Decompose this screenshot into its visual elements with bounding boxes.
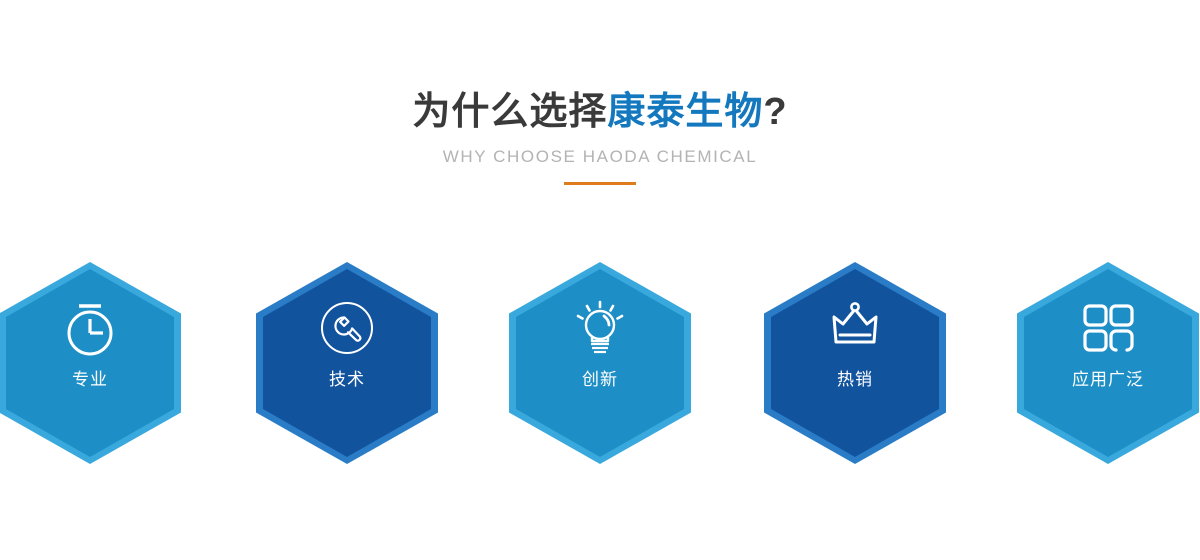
feature-hexagon-创新[interactable]: 创新 <box>509 262 691 464</box>
hexagon-content: 热销 <box>764 262 946 464</box>
crown-icon <box>823 296 887 360</box>
page-title: 为什么选择康泰生物? <box>0 88 1200 136</box>
feature-hexagon-专业[interactable]: 专业 <box>0 262 181 464</box>
grid-squares-icon <box>1076 296 1140 360</box>
heading-divider <box>564 182 636 185</box>
title-suffix: ? <box>763 91 787 133</box>
wrench-circle-icon <box>315 296 379 360</box>
hexagon-content: 技术 <box>256 262 438 464</box>
feature-hexagon-热销[interactable]: 热销 <box>764 262 946 464</box>
feature-hexagon-row: 专业 技术 <box>0 262 1200 467</box>
feature-label: 专业 <box>72 368 108 392</box>
feature-hexagon-应用广泛[interactable]: 应用广泛 <box>1017 262 1199 464</box>
section-heading: 为什么选择康泰生物? WHY CHOOSE HAODA CHEMICAL <box>0 88 1200 185</box>
feature-hexagon-技术[interactable]: 技术 <box>256 262 438 464</box>
title-accent-brand: 康泰生物 <box>607 91 763 133</box>
feature-label: 创新 <box>582 368 618 392</box>
stopwatch-icon <box>58 296 122 360</box>
hexagon-content: 专业 <box>0 262 181 464</box>
why-choose-us-section: 为什么选择康泰生物? WHY CHOOSE HAODA CHEMICAL 专业 <box>0 0 1200 560</box>
lightbulb-icon <box>568 296 632 360</box>
feature-label: 技术 <box>329 368 365 392</box>
page-subtitle: WHY CHOOSE HAODA CHEMICAL <box>0 146 1200 168</box>
feature-label: 热销 <box>837 368 873 392</box>
title-prefix: 为什么选择 <box>412 91 607 133</box>
hexagon-content: 应用广泛 <box>1017 262 1199 464</box>
hexagon-content: 创新 <box>509 262 691 464</box>
feature-label: 应用广泛 <box>1072 368 1144 392</box>
